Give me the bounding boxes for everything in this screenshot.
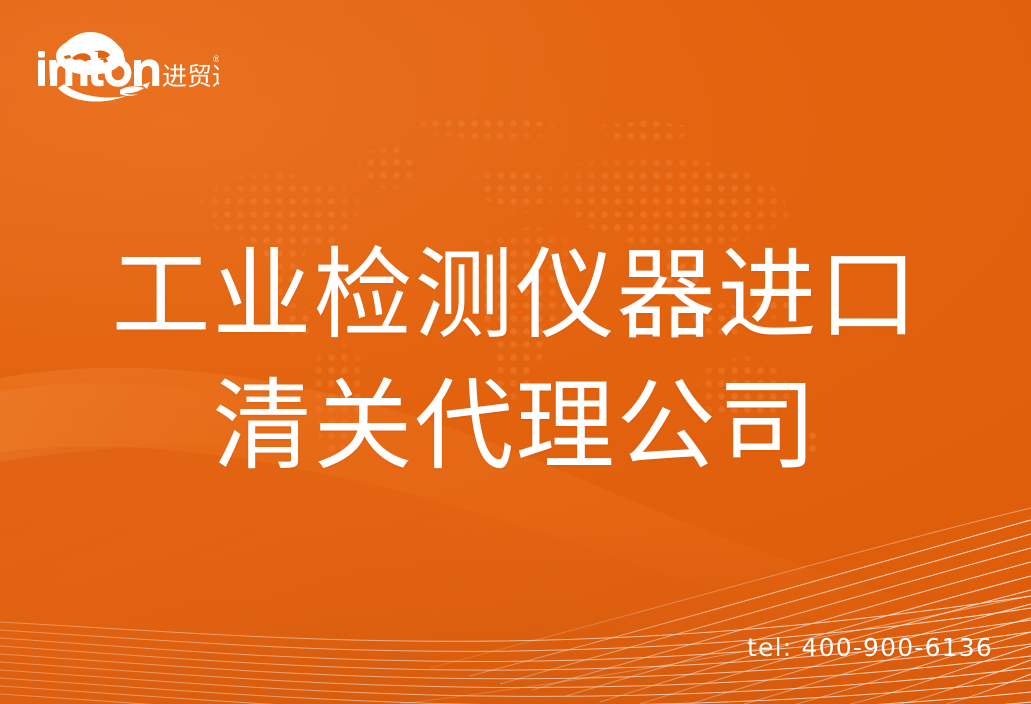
registered-trademark-icon: ® [212,55,219,65]
headline-line-1: 工业检测仪器进口 [0,230,1031,361]
globe-dome-icon [54,32,126,75]
promo-banner: 进贸通 ® 工业检测仪器进口 清关代理公司 tel: 400-900-6136 [0,0,1031,704]
headline-line-2: 清关代理公司 [0,361,1031,492]
logo-artwork: 进贸通 ® [34,26,219,102]
contact-phone[interactable]: tel: 400-900-6136 [747,633,993,662]
logo-chinese-name: 进贸通 [162,62,219,91]
company-logo[interactable]: 进贸通 ® [34,26,219,102]
